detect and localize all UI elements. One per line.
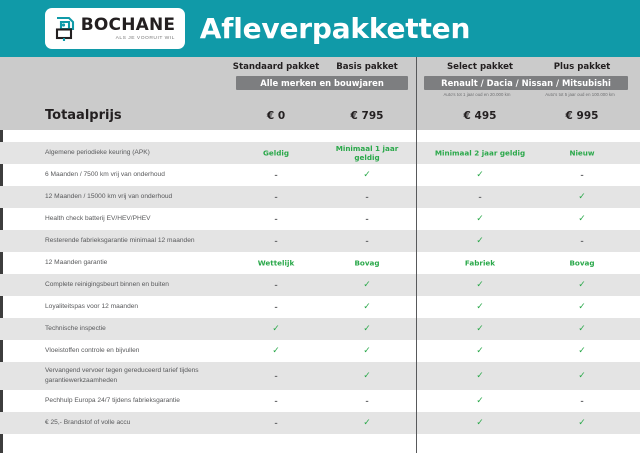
row-accent-bar <box>0 230 3 252</box>
total-price-row: Totaalprijs € 0 € 795 € 495 € 995 <box>0 105 640 130</box>
cell-check-icon: ✓ <box>322 371 412 381</box>
total-price-plus: € 995 <box>534 110 630 122</box>
cell-check-icon: ✓ <box>428 236 532 246</box>
table-row: Vloeistoffen controle en bijvullen✓✓✓✓ <box>0 340 640 362</box>
row-label: 12 Maanden garantie <box>45 258 235 268</box>
cell-check-icon: ✓ <box>534 214 630 224</box>
row-accent-bar <box>0 412 3 434</box>
cell-check-icon: ✓ <box>428 418 532 428</box>
row-accent-bar <box>0 340 3 362</box>
total-price-select: € 495 <box>428 110 532 122</box>
row-accent-bar <box>0 252 3 274</box>
cell-value: Fabriek <box>428 259 532 268</box>
table-rows: Algemene periodieke keuring (APK)GeldigM… <box>0 142 640 434</box>
row-label: Technische inspectie <box>45 324 235 334</box>
cell-check-icon: ✓ <box>428 396 532 406</box>
cell-dash: - <box>228 372 324 381</box>
row-label: Vloeistoffen controle en bijvullen <box>45 346 235 356</box>
table-row: Technische inspectie✓✓✓✓ <box>0 318 640 340</box>
cell-dash: - <box>228 303 324 312</box>
row-accent-bar <box>0 208 3 230</box>
row-label: Vervangend vervoer tegen gereduceerd tar… <box>45 366 235 386</box>
cell-dash: - <box>534 171 630 180</box>
row-accent-bar <box>0 296 3 318</box>
row-label: 12 Maanden / 15000 km vrij van onderhoud <box>45 192 235 202</box>
left-accent-bar-bottom <box>0 434 3 453</box>
group-divider <box>416 57 417 453</box>
col-head-basis: Basis pakket <box>322 62 412 72</box>
subnote-plus: Auto's tot 5 jaar oud en 100.000 km <box>527 92 633 97</box>
badge-merken-select-plus: Renault / Dacia / Nissan / Mitsubishi <box>424 76 628 90</box>
cell-dash: - <box>228 397 324 406</box>
page-title: Afleverpakketten <box>0 12 640 45</box>
cell-check-icon: ✓ <box>428 170 532 180</box>
row-accent-bar <box>0 318 3 340</box>
cell-check-icon: ✓ <box>428 346 532 356</box>
row-label: Loyaliteitspas voor 12 maanden <box>45 302 235 312</box>
row-accent-bar <box>0 186 3 208</box>
packages-table: Standaard pakket Basis pakket Alle merke… <box>0 57 640 453</box>
cell-value: Bovag <box>322 259 412 268</box>
cell-check-icon: ✓ <box>534 302 630 312</box>
cell-check-icon: ✓ <box>534 371 630 381</box>
cell-dash: - <box>228 215 324 224</box>
row-accent-bar <box>0 390 3 412</box>
cell-value: Bovag <box>534 259 630 268</box>
cell-value: Wettelijk <box>228 259 324 268</box>
total-price-basis: € 795 <box>322 110 412 122</box>
cell-check-icon: ✓ <box>322 170 412 180</box>
col-head-standaard: Standaard pakket <box>228 62 324 72</box>
total-price-standaard: € 0 <box>228 110 324 122</box>
row-accent-bar <box>0 142 3 164</box>
row-label: Algemene periodieke keuring (APK) <box>45 148 235 158</box>
column-header-band: Standaard pakket Basis pakket Alle merke… <box>0 57 640 105</box>
cell-check-icon: ✓ <box>428 280 532 290</box>
cell-dash: - <box>228 237 324 246</box>
cell-check-icon: ✓ <box>534 280 630 290</box>
afleverpakketten-page: BOCHANE ALS JE VOORUIT WIL Afleverpakket… <box>0 0 640 453</box>
row-label: 6 Maanden / 7500 km vrij van onderhoud <box>45 170 235 180</box>
cell-check-icon: ✓ <box>228 346 324 356</box>
cell-dash: - <box>534 237 630 246</box>
table-row: 12 Maanden garantieWettelijkBovagFabriek… <box>0 252 640 274</box>
row-accent-bar <box>0 164 3 186</box>
cell-dash: - <box>228 419 324 428</box>
cell-check-icon: ✓ <box>322 324 412 334</box>
cell-dash: - <box>228 193 324 202</box>
table-row: Health check batterij EV/HEV/PHEV--✓✓ <box>0 208 640 230</box>
table-row: Vervangend vervoer tegen gereduceerd tar… <box>0 362 640 390</box>
row-accent-bar <box>0 362 3 390</box>
page-header: BOCHANE ALS JE VOORUIT WIL Afleverpakket… <box>0 0 640 57</box>
cell-dash: - <box>228 171 324 180</box>
cell-check-icon: ✓ <box>322 280 412 290</box>
cell-check-icon: ✓ <box>534 192 630 202</box>
cell-dash: - <box>322 193 412 202</box>
total-price-label: Totaalprijs <box>45 108 122 123</box>
col-head-select: Select pakket <box>428 62 532 72</box>
cell-dash: - <box>322 397 412 406</box>
cell-check-icon: ✓ <box>428 214 532 224</box>
cell-value: Minimaal 1 jaar geldig <box>322 144 412 162</box>
cell-value: Minimaal 2 jaar geldig <box>428 149 532 158</box>
row-accent-bar <box>0 274 3 296</box>
row-label: Pechhulp Europa 24/7 tijdens fabrieksgar… <box>45 396 235 406</box>
table-row: Resterende fabrieksgarantie minimaal 12 … <box>0 230 640 252</box>
table-spacer <box>0 130 640 142</box>
table-row: Pechhulp Europa 24/7 tijdens fabrieksgar… <box>0 390 640 412</box>
cell-check-icon: ✓ <box>534 324 630 334</box>
row-label: Resterende fabrieksgarantie minimaal 12 … <box>45 236 235 246</box>
row-label: € 25,- Brandstof of volle accu <box>45 418 235 428</box>
subnote-select: Auto's tot 1 jaar oud en 20.000 km <box>424 92 530 97</box>
table-row: 12 Maanden / 15000 km vrij van onderhoud… <box>0 186 640 208</box>
left-accent-bar <box>0 130 3 142</box>
table-row: Complete reinigingsbeurt binnen en buite… <box>0 274 640 296</box>
badge-alle-merken: Alle merken en bouwjaren <box>236 76 408 90</box>
row-label: Health check batterij EV/HEV/PHEV <box>45 214 235 224</box>
cell-check-icon: ✓ <box>322 302 412 312</box>
cell-dash: - <box>228 281 324 290</box>
cell-check-icon: ✓ <box>428 302 532 312</box>
table-bottom-pad <box>0 434 640 453</box>
cell-dash: - <box>322 237 412 246</box>
cell-check-icon: ✓ <box>534 418 630 428</box>
col-head-plus: Plus pakket <box>534 62 630 72</box>
cell-check-icon: ✓ <box>534 346 630 356</box>
cell-check-icon: ✓ <box>428 324 532 334</box>
table-row: € 25,- Brandstof of volle accu-✓✓✓ <box>0 412 640 434</box>
cell-check-icon: ✓ <box>228 324 324 334</box>
table-row: Algemene periodieke keuring (APK)GeldigM… <box>0 142 640 164</box>
row-label: Complete reinigingsbeurt binnen en buite… <box>45 280 235 290</box>
cell-value: Geldig <box>228 149 324 158</box>
table-row: Loyaliteitspas voor 12 maanden-✓✓✓ <box>0 296 640 318</box>
cell-value: Nieuw <box>534 149 630 158</box>
cell-check-icon: ✓ <box>322 346 412 356</box>
cell-dash: - <box>428 193 532 202</box>
cell-dash: - <box>322 215 412 224</box>
cell-dash: - <box>534 397 630 406</box>
cell-check-icon: ✓ <box>322 418 412 428</box>
table-row: 6 Maanden / 7500 km vrij van onderhoud-✓… <box>0 164 640 186</box>
cell-check-icon: ✓ <box>428 371 532 381</box>
